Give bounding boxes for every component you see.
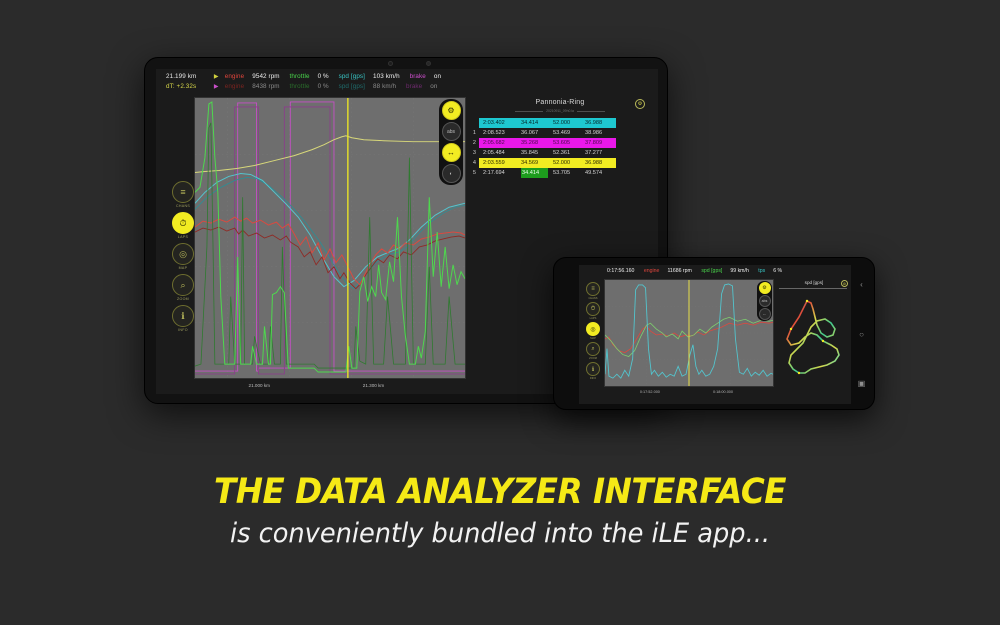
lap-sector-3: 38.986 xyxy=(585,128,612,138)
x-tick-label: 21.000 km xyxy=(249,383,270,388)
phone-nav-bar: ‹○▣ xyxy=(852,280,871,388)
cursor-button[interactable]: ↔ xyxy=(759,308,771,320)
lap-row[interactable]: 52:17.69434.41453.70549.574 xyxy=(470,168,650,178)
lap-times: 2:05.68235.26853.60537.809 xyxy=(479,138,616,148)
laps-icon[interactable]: ⏱ xyxy=(586,302,600,316)
lap-index: 5 xyxy=(470,168,479,178)
lap-list: 2:03.40234.41452.00036.98812:08.52336.06… xyxy=(470,118,650,178)
track-marker-1 xyxy=(790,328,792,330)
track-outline xyxy=(787,301,839,373)
lap-row[interactable]: 42:03.55934.56952.00036.988 xyxy=(470,158,650,168)
tablet-chart-xaxis: 21.000 km21.300 km xyxy=(194,381,466,393)
engine-value: 9542 rpm xyxy=(252,73,279,80)
chart-svg xyxy=(195,98,465,378)
tool-label: LAPS xyxy=(590,317,597,320)
lap-times: 2:05.48435.84552.36137.277 xyxy=(479,148,616,158)
tool-label: ZOOM xyxy=(589,357,597,360)
lap-time: 2:17.694 xyxy=(483,168,516,178)
lap-sector-1: 34.569 xyxy=(521,158,548,168)
info-icon[interactable]: ℹ xyxy=(586,362,600,376)
phone-tool-chans[interactable]: ≡CHANS xyxy=(586,282,600,300)
laps-icon[interactable]: ⏱ xyxy=(172,212,194,234)
lap-sector-3: 36.988 xyxy=(585,158,612,168)
recents-icon[interactable]: ▣ xyxy=(858,379,866,388)
gear-icon[interactable]: ⚙ xyxy=(635,99,645,109)
phone-time-value: 0:17:56.160 xyxy=(607,268,634,274)
track-marker-3 xyxy=(798,372,800,374)
lap-sector-1: 35.845 xyxy=(521,148,548,158)
channels-icon[interactable]: ≡ xyxy=(586,282,600,296)
distance-value: 21.199 km xyxy=(166,72,212,82)
tablet-tool-map[interactable]: ◎MAP xyxy=(172,243,194,270)
phone-screen: 0:17:56.160 engine11686 rpm spd [gps]99 … xyxy=(579,265,851,404)
settings-gear[interactable]: ⚙ xyxy=(442,101,461,120)
lap-index: 2 xyxy=(470,138,479,148)
engine-value-b: 8438 rpm xyxy=(252,83,279,90)
lap-sector-2: 52.361 xyxy=(553,148,580,158)
phone-readout-header: 0:17:56.160 engine11686 rpm spd [gps]99 … xyxy=(579,265,851,278)
play-marker-icon: ▶ xyxy=(214,72,223,82)
track-marker-start xyxy=(806,300,808,302)
track-marker-2 xyxy=(822,340,824,342)
lap-index: 1 xyxy=(470,128,479,138)
throttle-value-b: 0 % xyxy=(318,83,329,90)
caption-block: THE DATA ANALYZER INTERFACE is convenien… xyxy=(0,472,1000,549)
lap-time: 2:08.523 xyxy=(483,128,516,138)
brake-label: brake xyxy=(410,73,426,80)
tablet-tool-info[interactable]: ℹINFO xyxy=(172,305,194,332)
phone-chart-xaxis: 0:17:52.0000:18:00.000 xyxy=(604,389,774,399)
lap-sector-1: 34.414 xyxy=(521,168,548,178)
session-file-label: 20210911_09h0.la xyxy=(546,109,574,113)
tool-label: ZOOM xyxy=(177,297,189,301)
readout-row-lap-b: dT: +2.32s ▶ engine8438 rpm throttle0 % … xyxy=(166,82,658,92)
units-button[interactable]: abs xyxy=(759,295,771,307)
channels-icon[interactable]: ≡ xyxy=(172,181,194,203)
spd-value-b: 88 km/h xyxy=(373,83,396,90)
phone-engine-label: engine xyxy=(644,268,660,274)
tablet-tool-zoom[interactable]: ⌕ZOOM xyxy=(172,274,194,301)
lap-times: 2:08.52336.06753.46938.986 xyxy=(479,128,616,138)
lap-sector-2: 53.469 xyxy=(553,128,580,138)
tool-label: INFO xyxy=(590,377,596,380)
sensor-icon xyxy=(426,61,431,66)
spd-label-b: spd [gps] xyxy=(339,83,365,90)
lap-sector-3: 37.277 xyxy=(585,148,612,158)
lap-row[interactable]: 32:05.48435.84552.36137.277 xyxy=(470,148,650,158)
tablet-chart-buttons: ⚙abs↔◐ xyxy=(439,99,463,185)
caption-subline: is conveniently bundled into the iLE app… xyxy=(25,518,975,549)
map-icon[interactable]: ◎ xyxy=(586,322,600,336)
spd-label: spd [gps] xyxy=(339,73,365,80)
settings-gear[interactable]: ⚙ xyxy=(759,282,771,294)
home-icon[interactable]: ○ xyxy=(859,330,864,339)
phone-tps-value: 6 % xyxy=(773,268,782,274)
track-map-svg[interactable] xyxy=(777,289,851,381)
spd-value: 103 km/h xyxy=(373,73,400,80)
phone-tps-label: tps xyxy=(758,268,765,274)
tablet-tool-laps[interactable]: ⏱LAPS xyxy=(172,212,194,239)
zoom-icon[interactable]: ⌕ xyxy=(586,342,600,356)
phone-tool-zoom[interactable]: ⌕ZOOM xyxy=(586,342,600,360)
overlay-button[interactable]: ◐ xyxy=(442,164,461,183)
phone-spd-label: spd [gps] xyxy=(701,268,722,274)
caption-headline: THE DATA ANALYZER INTERFACE xyxy=(35,472,965,512)
lap-times: 2:03.55934.56952.00036.988 xyxy=(479,158,616,168)
lap-times: 2:17.69434.41453.70549.574 xyxy=(479,168,616,178)
lap-times: 2:03.40234.41452.00036.988 xyxy=(479,118,616,128)
play-marker-icon-b: ▶ xyxy=(214,82,223,92)
tablet-tool-chans[interactable]: ≡CHANS xyxy=(172,181,194,208)
lap-index xyxy=(470,118,479,128)
lap-sector-3: 37.809 xyxy=(585,138,612,148)
map-channel-title: spd [gps] xyxy=(777,279,851,285)
lap-time: 2:03.402 xyxy=(483,118,516,128)
readout-row-lap-a: 21.199 km ▶ engine9542 rpm throttle0 % s… xyxy=(166,72,658,82)
tool-label: INFO xyxy=(178,328,188,332)
phone-left-toolbar: ≡CHANS⏱LAPS◎MAP⌕ZOOMℹINFO xyxy=(582,279,604,391)
session-file-name: 20210911_09h0.la xyxy=(470,106,650,113)
phone-engine-value: 11686 rpm xyxy=(667,268,691,274)
phone-chart-plot[interactable] xyxy=(604,279,774,387)
track-name: Pannonia-Ring xyxy=(470,97,650,106)
lap-sector-1: 36.067 xyxy=(521,128,548,138)
zoom-icon[interactable]: ⌕ xyxy=(172,274,194,296)
tool-label: CHANS xyxy=(588,297,597,300)
phone-map-panel: spd [gps] ⚙ xyxy=(777,279,851,399)
tool-label: MAP xyxy=(590,337,596,340)
phone-tool-laps[interactable]: ⏱LAPS xyxy=(586,302,600,320)
lap-sector-2: 52.000 xyxy=(553,118,580,128)
phone-chart-svg xyxy=(605,280,773,386)
lap-row[interactable]: 22:05.68235.26853.60537.809 xyxy=(470,138,650,148)
lap-sector-2: 52.000 xyxy=(553,158,580,168)
throttle-value: 0 % xyxy=(318,73,329,80)
brake-value: on xyxy=(434,73,441,80)
x-tick-label: 21.300 km xyxy=(363,383,384,388)
throttle-label-b: throttle xyxy=(290,83,310,90)
phone-tool-map[interactable]: ◎MAP xyxy=(586,322,600,340)
info-icon[interactable]: ℹ xyxy=(172,305,194,327)
lap-time: 2:05.682 xyxy=(483,138,516,148)
delta-time-value: dT: +2.32s xyxy=(166,82,212,92)
x-tick-label: 0:18:00.000 xyxy=(713,390,733,394)
lap-sector-1: 34.414 xyxy=(521,118,548,128)
engine-label-b: engine xyxy=(225,83,245,90)
phone-chart-buttons: ⚙abs↔ xyxy=(757,281,772,321)
tablet-bezel xyxy=(145,58,667,69)
brake-label-b: brake xyxy=(406,83,422,90)
lap-time: 2:03.559 xyxy=(483,158,516,168)
tablet-readout-header: 21.199 km ▶ engine9542 rpm throttle0 % s… xyxy=(156,69,658,95)
lap-sector-3: 49.574 xyxy=(585,168,612,178)
lap-sector-3: 36.988 xyxy=(585,118,612,128)
lap-sector-2: 53.605 xyxy=(553,138,580,148)
lap-row[interactable]: 12:08.52336.06753.46938.986 xyxy=(470,128,650,138)
units-button[interactable]: abs xyxy=(442,122,461,141)
front-camera-icon xyxy=(388,61,393,66)
tablet-chart-plot[interactable] xyxy=(194,97,466,379)
phone-device: 0:17:56.160 engine11686 rpm spd [gps]99 … xyxy=(553,257,875,410)
lap-time: 2:05.484 xyxy=(483,148,516,158)
lap-index: 3 xyxy=(470,148,479,158)
lap-sector-2: 53.705 xyxy=(553,168,580,178)
x-tick-label: 0:17:52.000 xyxy=(640,390,660,394)
brake-value-b: on xyxy=(430,83,437,90)
tool-label: LAPS xyxy=(178,235,188,239)
phone-spd-value: 99 km/h xyxy=(730,268,748,274)
gear-icon[interactable]: ⚙ xyxy=(841,280,848,287)
throttle-label: throttle xyxy=(290,73,310,80)
map-icon[interactable]: ◎ xyxy=(172,243,194,265)
tool-label: CHANS xyxy=(176,204,190,208)
tool-label: MAP xyxy=(179,266,188,270)
lap-sector-1: 35.268 xyxy=(521,138,548,148)
back-icon[interactable]: ‹ xyxy=(860,280,863,289)
lap-index: 4 xyxy=(470,158,479,168)
lap-row[interactable]: 2:03.40234.41452.00036.988 xyxy=(470,118,650,128)
phone-tool-info[interactable]: ℹINFO xyxy=(586,362,600,380)
engine-label: engine xyxy=(225,73,245,80)
cursor-button[interactable]: ↔ xyxy=(442,143,461,162)
